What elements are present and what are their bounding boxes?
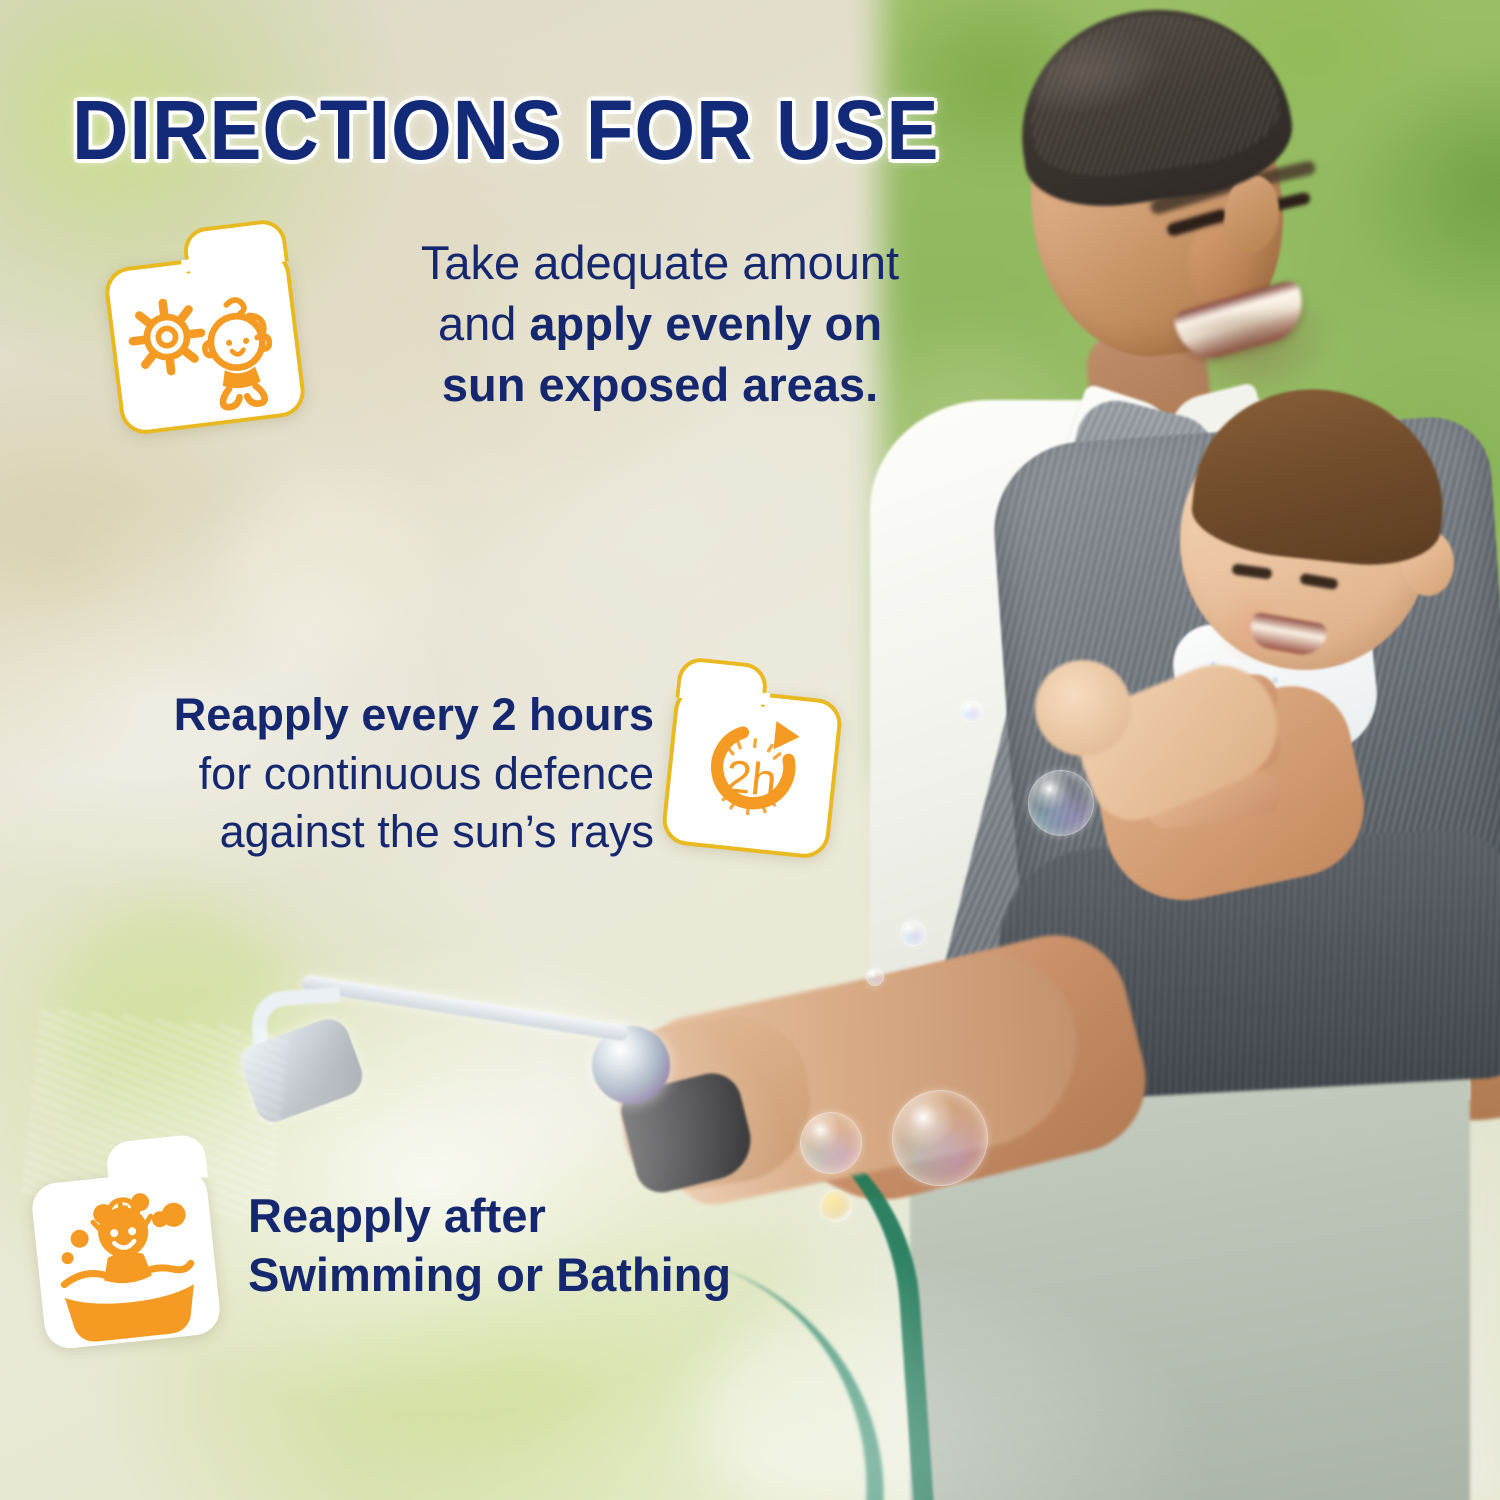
- step-1-line-3: sun exposed areas.: [352, 354, 968, 415]
- step-3-line-1: Reapply after: [248, 1186, 868, 1245]
- step-1-line-1: Take adequate amount: [352, 232, 968, 293]
- soap-bubble: [900, 920, 926, 946]
- baby-bathtub-bubbles-icon: [30, 1167, 222, 1350]
- reapply-2h-badge: 2h: [660, 684, 844, 861]
- step-1-text: Take adequate amount and apply evenly on…: [352, 232, 968, 415]
- baby-hair: [1188, 377, 1454, 572]
- soap-bubble: [800, 1112, 862, 1174]
- step-2-text: Reapply every 2 hours for continuous def…: [52, 686, 654, 862]
- soap-bubble: [1028, 770, 1094, 836]
- clock-2h-label: 2h: [723, 750, 779, 806]
- poster-canvas: DIRECTIONS FOR USE: [0, 0, 1500, 1500]
- step-1-line-2: and apply evenly on: [352, 293, 968, 354]
- step-3-line-2: Swimming or Bathing: [248, 1245, 868, 1304]
- sun-icon: [129, 299, 205, 375]
- step-2-line-1: Reapply every 2 hours: [52, 686, 654, 745]
- step-3-text: Reapply after Swimming or Bathing: [248, 1186, 868, 1304]
- clock-2h-refresh-icon: 2h: [664, 688, 839, 856]
- baby-hand: [1035, 660, 1131, 756]
- soap-bubble: [960, 700, 982, 722]
- sun-baby-icon: [107, 252, 303, 433]
- soap-bubble: [892, 1090, 988, 1186]
- sun-baby-badge: [102, 247, 307, 436]
- refresh-arrowhead: [773, 721, 801, 752]
- page-title: DIRECTIONS FOR USE: [72, 82, 939, 179]
- step-2-line-2: for continuous defence: [52, 745, 654, 804]
- baby-eye-left: [1231, 563, 1272, 579]
- step-2-line-3: against the sun’s rays: [52, 803, 654, 862]
- bathtub-badge: [30, 1167, 222, 1350]
- baby-icon: [199, 296, 276, 409]
- baby-eye-right: [1299, 573, 1338, 590]
- soap-bubble: [866, 968, 884, 986]
